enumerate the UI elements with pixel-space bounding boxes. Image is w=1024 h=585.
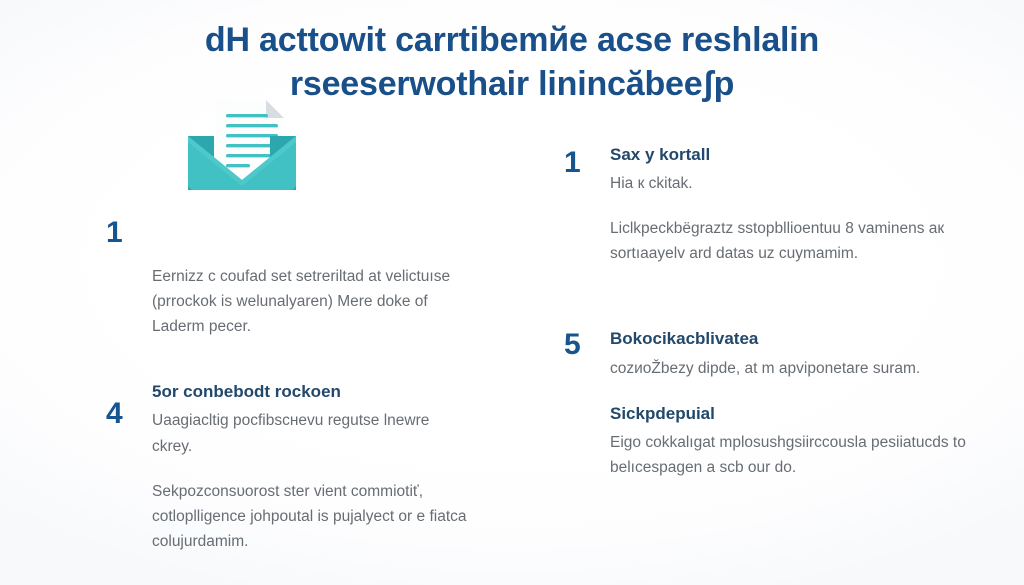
- right-top-heading: Sax y kortall: [610, 144, 966, 166]
- right-bottom-number: 5: [564, 330, 610, 360]
- right-bottom-heading: Bokocikacblivatea: [610, 328, 966, 350]
- right-bottom-subsection-heading: Sickpdepuial: [610, 403, 966, 425]
- infographic-poster: dH acttowit carrtibemйe acse reshlalin r…: [0, 0, 1024, 585]
- left-top-paragraph-1: Eernizz c coufad set setreriltad at veli…: [152, 264, 472, 339]
- left-bottom-heading: 5or conbebodt rockoen: [152, 381, 472, 403]
- envelope-icon-row: [96, 96, 472, 198]
- open-envelope-with-document-icon: [180, 96, 304, 192]
- right-top-paragraph-2: Liclkpeckbëgraztz sstopbllioentuu 8 vami…: [610, 216, 966, 266]
- right-column: 1 Sax y kortall Hia к ckitak. Liclkpeckb…: [512, 96, 1024, 566]
- right-top-paragraph-1: Hia к ckitak.: [610, 171, 966, 196]
- right-top-number: 1: [564, 148, 610, 178]
- right-bottom-body: Bokocikacblivatea cozиoŽbezy dipde, at m…: [610, 328, 966, 480]
- left-bottom-number: 4: [106, 399, 152, 429]
- left-bottom-paragraph-1: Uaagiacltig pocfibscнevu regutse lnewre …: [152, 408, 472, 458]
- title-container: dH acttowit carrtibemйe acse reshlalin r…: [0, 18, 1024, 106]
- left-bottom-block: 4 5or conbebodt rockoen Uaagiacltig pocf…: [96, 381, 472, 554]
- left-top-number: 1: [106, 218, 152, 248]
- right-top-block: 1 Sax y kortall Hia к ckitak. Liclkpeckb…: [564, 144, 966, 266]
- right-bottom-block: 5 Bokocikacblivatea cozиoŽbezy dipde, at…: [564, 328, 966, 480]
- left-bottom-paragraph-2: Sekpozconsυorost ster vient commiotiť, c…: [152, 479, 472, 554]
- page-title: dH acttowit carrtibemйe acse reshlalin r…: [90, 18, 934, 106]
- right-bottom-subsection-paragraph-1: Eigo cokkalıgat mplosushgsiirccousla pes…: [610, 430, 966, 480]
- right-bottom-paragraph-1: cozиoŽbezy dipde, at m apviponetare sura…: [610, 356, 966, 381]
- left-top-body: Eernizz c coufad set setreriltad at veli…: [152, 200, 472, 339]
- content-columns: 1 Eernizz c coufad set setreriltad at ve…: [0, 96, 1024, 566]
- left-top-block: 1 Eernizz c coufad set setreriltad at ve…: [96, 200, 472, 339]
- left-column: 1 Eernizz c coufad set setreriltad at ve…: [0, 96, 512, 566]
- left-bottom-body: 5or conbebodt rockoen Uaagiacltig pocfib…: [152, 381, 472, 554]
- right-bottom-subsection: Sickpdepuial Eigo cokkalıgat mplosushgsi…: [610, 403, 966, 480]
- right-top-body: Sax y kortall Hia к ckitak. Liclkpeckbëg…: [610, 144, 966, 266]
